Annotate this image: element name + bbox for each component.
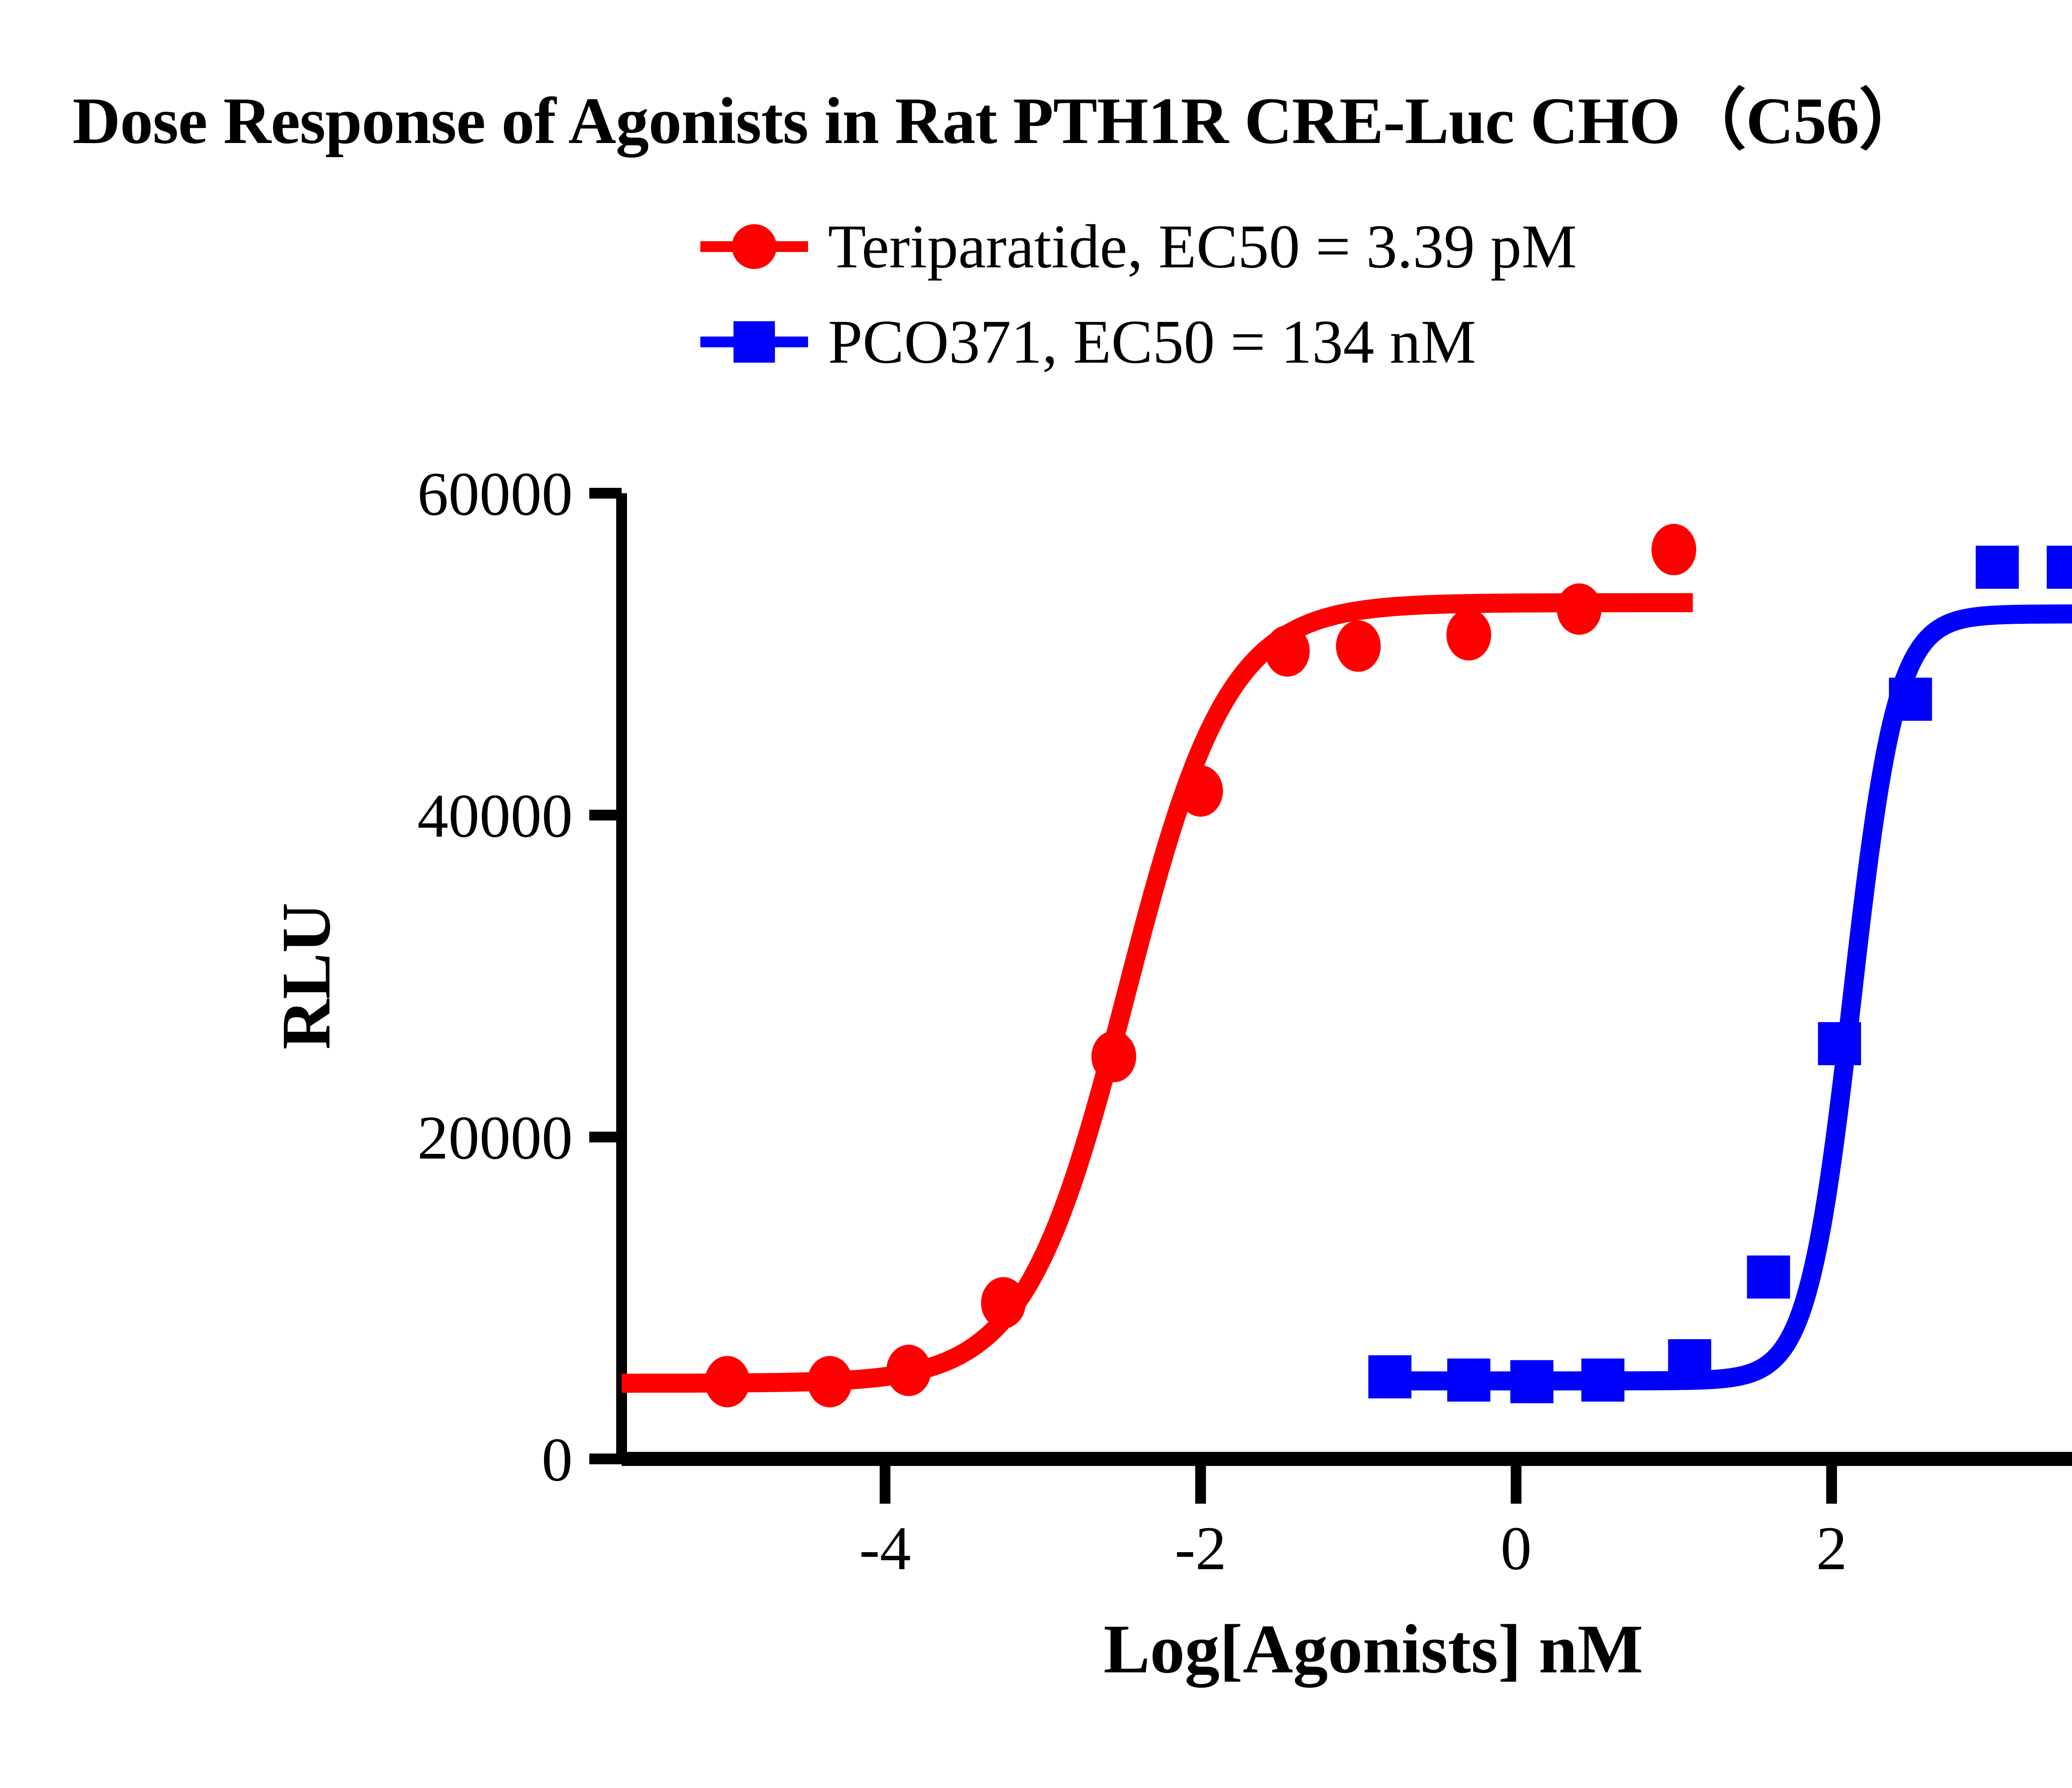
x-tick-label[interactable]: 0: [1501, 1514, 1532, 1583]
y-tick-label[interactable]: 0: [542, 1425, 573, 1494]
y-axis-title: RLU: [268, 903, 345, 1050]
data-point-teriparatide[interactable]: [1092, 1031, 1136, 1082]
data-point-teriparatide[interactable]: [1265, 625, 1310, 677]
y-tick-label[interactable]: 20000: [417, 1103, 573, 1172]
data-points: [705, 524, 2072, 1408]
x-axis-title: Log[Agonists] nM: [1104, 1611, 1643, 1688]
data-point-pco371[interactable]: [1581, 1359, 1624, 1402]
data-point-teriparatide[interactable]: [705, 1356, 750, 1408]
data-point-teriparatide[interactable]: [1446, 609, 1491, 661]
data-point-teriparatide[interactable]: [1336, 620, 1381, 672]
y-tick-label[interactable]: 40000: [417, 782, 573, 850]
data-point-teriparatide[interactable]: [981, 1277, 1026, 1328]
data-point-pco371[interactable]: [2047, 546, 2072, 589]
data-point-pco371[interactable]: [1889, 678, 1932, 721]
x-axis-tick-labels: -4-2024: [859, 1514, 2072, 1583]
data-point-teriparatide[interactable]: [1651, 524, 1696, 575]
data-point-pco371[interactable]: [1668, 1339, 1711, 1382]
data-point-teriparatide[interactable]: [1178, 765, 1223, 816]
data-point-teriparatide[interactable]: [808, 1356, 852, 1408]
fit-curve-pco371[interactable]: [1377, 614, 2072, 1381]
data-point-teriparatide[interactable]: [886, 1345, 931, 1396]
chart-svg: 0200004000060000 -4-2024 Log[Agonists] n…: [0, 0, 2072, 1788]
chart-page: Dose Response of Agonists in Rat PTH1R C…: [0, 0, 2072, 1788]
x-tick-label[interactable]: -4: [859, 1514, 911, 1583]
data-point-pco371[interactable]: [1368, 1355, 1411, 1398]
fit-curve-teriparatide[interactable]: [622, 603, 1693, 1383]
x-tick-label[interactable]: -2: [1175, 1514, 1227, 1583]
data-point-pco371[interactable]: [1976, 546, 2019, 589]
data-point-pco371[interactable]: [1510, 1360, 1554, 1403]
plot-area: 0200004000060000 -4-2024 Log[Agonists] n…: [0, 0, 2072, 1788]
x-tick-label[interactable]: 2: [1816, 1514, 1847, 1583]
data-point-teriparatide[interactable]: [1557, 584, 1602, 635]
data-point-pco371[interactable]: [1447, 1359, 1490, 1402]
y-axis-tick-labels: 0200004000060000: [417, 460, 573, 1494]
fit-curves: [622, 603, 2072, 1383]
y-tick-label[interactable]: 60000: [417, 460, 573, 528]
data-point-pco371[interactable]: [1818, 1022, 1861, 1065]
data-point-pco371[interactable]: [1747, 1255, 1790, 1299]
